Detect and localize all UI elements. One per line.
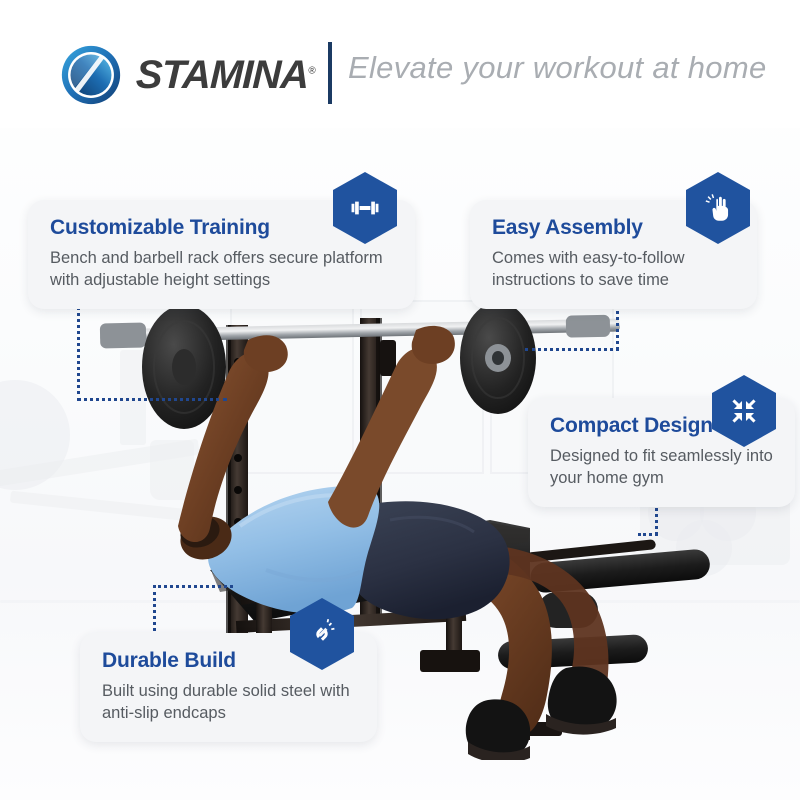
header-bar: STAMINA® Elevate your workout at home	[0, 0, 800, 128]
header-tagline: Elevate your workout at home	[348, 50, 767, 86]
snap-fingers-hand-icon	[701, 191, 735, 225]
brand-wordmark: STAMINA®	[135, 55, 315, 95]
infographic-canvas: STAMINA® Elevate your workout at home	[0, 0, 800, 800]
feature-body: Bench and barbell rack offers secure pla…	[50, 247, 395, 291]
brand-name: STAMINA	[135, 53, 309, 97]
brand-trademark: ®	[308, 66, 315, 77]
feature-body: Built using durable solid steel with ant…	[102, 680, 357, 724]
feature-body: Comes with easy-to-follow instructions t…	[492, 247, 737, 291]
stamina-circle-slash-logo-icon	[60, 44, 122, 106]
brand-logo[interactable]: STAMINA®	[60, 44, 315, 106]
chain-link-icon	[305, 617, 339, 651]
compress-arrows-icon	[727, 394, 761, 428]
dumbbell-icon	[348, 191, 382, 225]
feature-body: Designed to fit seamlessly into your hom…	[550, 445, 775, 489]
header-divider	[328, 42, 332, 104]
